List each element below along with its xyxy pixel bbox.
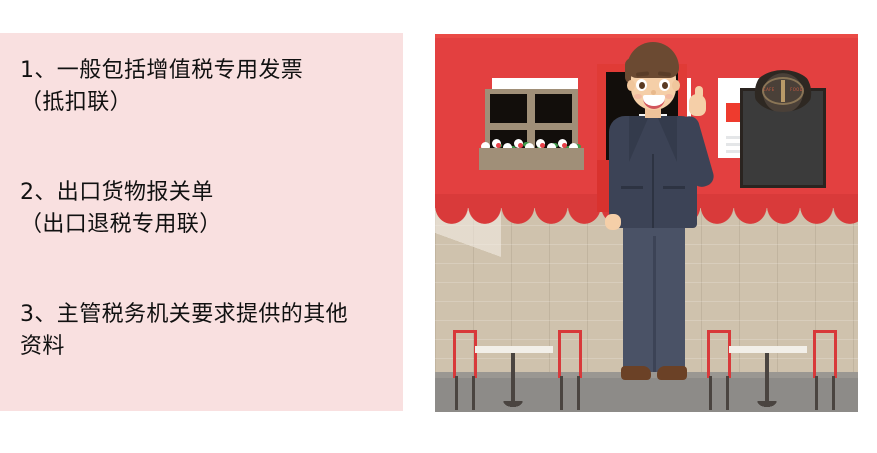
cafe-emblem-icon: CAFE FOOD: [753, 70, 813, 112]
character-shoe-right: [657, 366, 687, 380]
list-item-2: 2、出口货物报关单 （出口退税专用联）: [20, 177, 385, 241]
character-pupil-left: [639, 82, 645, 89]
cafe-chair: [453, 330, 477, 410]
character-pocket-right: [663, 186, 685, 189]
businessman-character: [603, 36, 703, 412]
cafe-chair: [558, 330, 582, 410]
character-shoe-left: [621, 366, 651, 380]
character-pocket-left: [621, 186, 643, 189]
window-flower-box: [479, 148, 584, 170]
thumbs-up-icon: [695, 86, 703, 99]
character-hair: [627, 42, 679, 78]
emblem-right-text: FOOD: [790, 87, 803, 92]
list-item-3: 3、主管税务机关要求提供的其他 资料: [20, 299, 385, 363]
character-leg-split: [653, 236, 656, 372]
character-pupil-right: [662, 82, 668, 89]
emblem-left-text: CAFE: [763, 87, 775, 92]
character-ear-right: [672, 80, 680, 91]
character-lapel-right: [657, 116, 677, 162]
character-jacket-split: [652, 154, 654, 228]
character-lapel-left: [629, 116, 649, 162]
window-pane: [490, 94, 527, 123]
character-cheek-left: [634, 94, 642, 99]
window-pane: [535, 94, 572, 123]
character-ear-left: [627, 80, 635, 91]
character-hand-left: [605, 214, 621, 230]
list-item-1: 1、一般包括增值税专用发票 （抵扣联）: [20, 55, 385, 119]
text-panel: 1、一般包括增值税专用发票 （抵扣联） 2、出口货物报关单 （出口退税专用联） …: [0, 33, 403, 411]
cafe-chair: [707, 330, 731, 410]
storefront-illustration: CAFE FOOD: [435, 34, 858, 412]
emblem-text: CAFE FOOD: [763, 87, 803, 92]
cafe-chair: [813, 330, 837, 410]
character-cheek-right: [665, 94, 673, 99]
